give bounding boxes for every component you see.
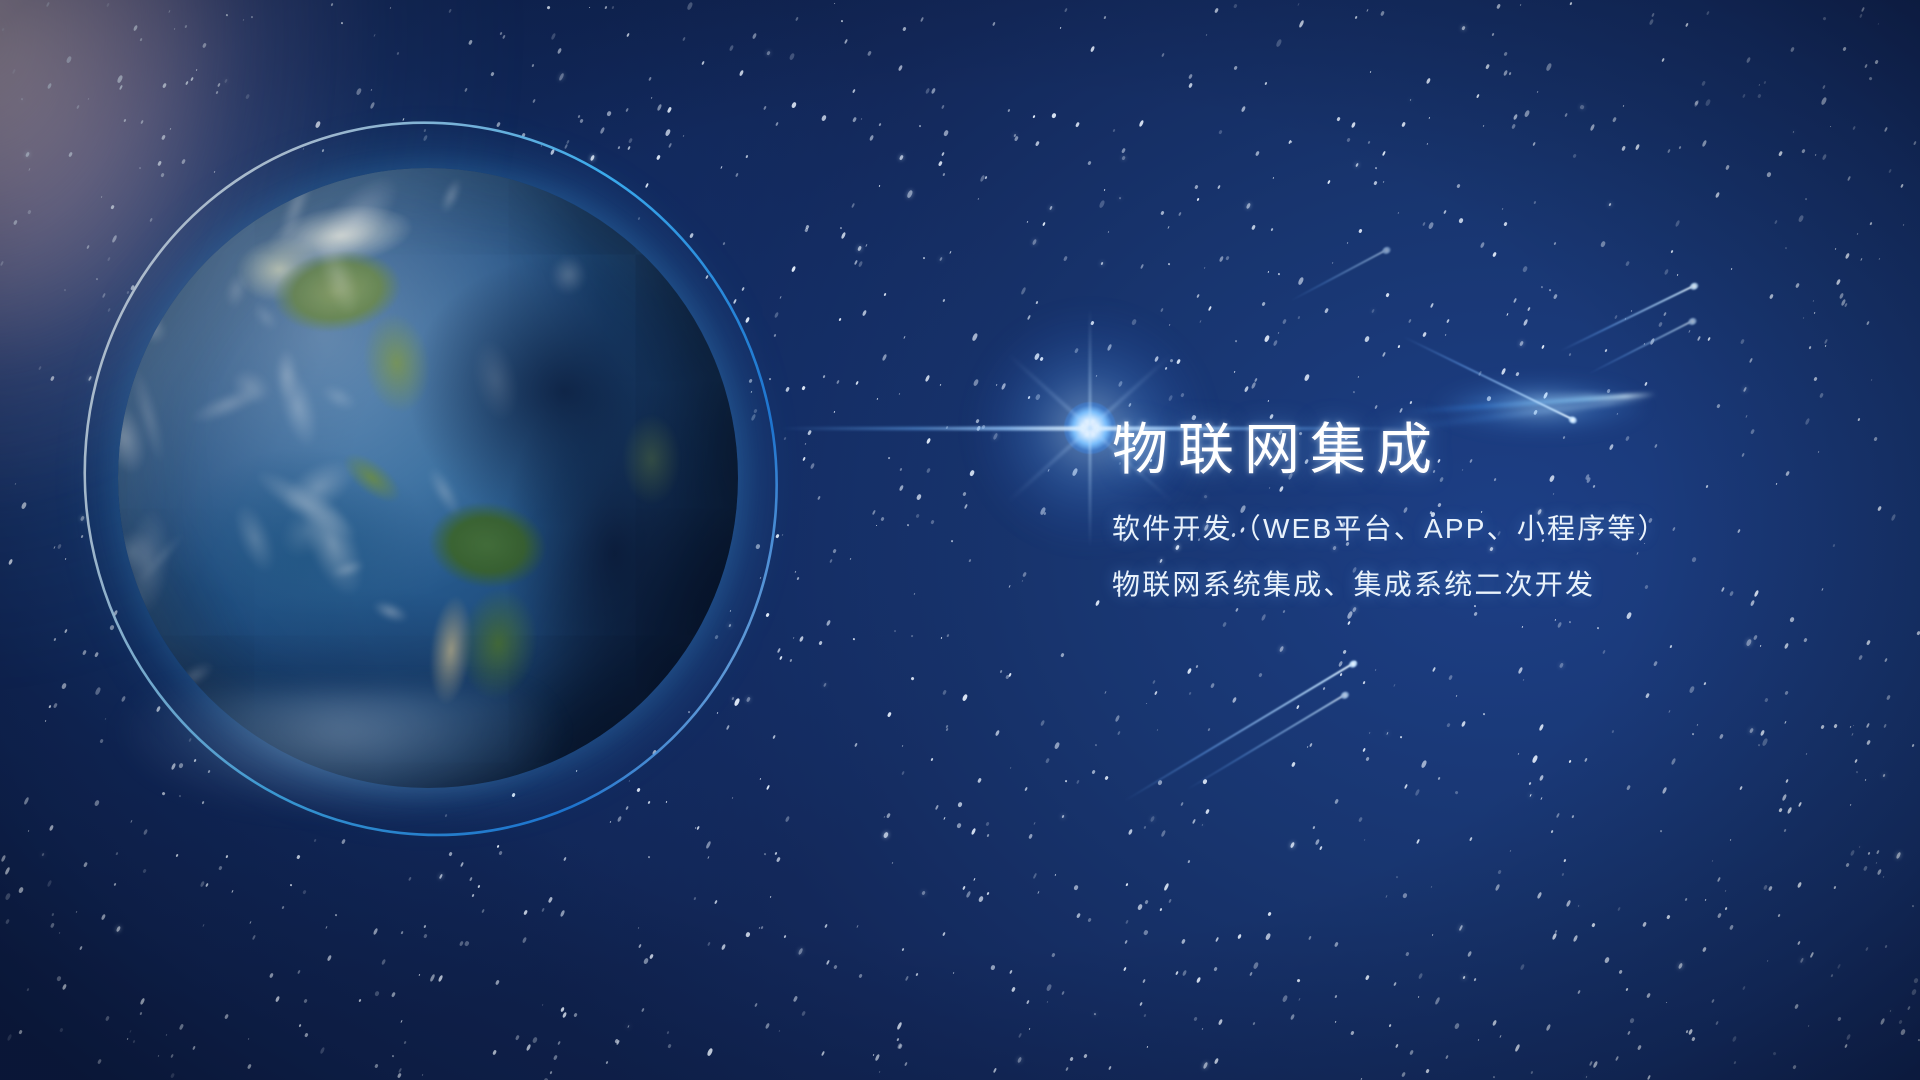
orbit-ring-svg	[0, 23, 878, 935]
meteor-lower-a	[1124, 661, 1355, 800]
globe-reflection-haze	[60, 690, 620, 900]
continent-south-america	[376, 468, 615, 774]
meteor-head	[1689, 281, 1700, 291]
banner-subtitle-line-1: 软件开发（WEB平台、APP、小程序等）	[1112, 506, 1872, 551]
meteor-mid-right	[1290, 248, 1387, 300]
banner-headline: 物联网集成	[1112, 420, 1872, 480]
light-beam-tertiary	[1452, 393, 1612, 401]
meteor-upper-right-c	[1588, 319, 1693, 373]
globe-oceans	[118, 168, 738, 788]
meteor-tail	[1588, 319, 1694, 375]
hero-banner: 物联网集成 软件开发（WEB平台、APP、小程序等） 物联网系统集成、集成系统二…	[0, 0, 1920, 1080]
globe-clouds	[118, 168, 738, 788]
meteor-tail	[1290, 248, 1388, 302]
banner-text-block: 物联网集成 软件开发（WEB平台、APP、小程序等） 物联网系统集成、集成系统二…	[1112, 420, 1872, 607]
meteor-head	[1339, 690, 1350, 701]
banner-subtitle-list: 软件开发（WEB平台、APP、小程序等） 物联网系统集成、集成系统二次开发	[1112, 506, 1872, 607]
globe-terminator	[118, 168, 738, 788]
meteor-head	[1381, 245, 1392, 255]
meteor-tail	[1186, 693, 1347, 791]
earth-globe	[118, 168, 738, 788]
banner-subtitle-line-2: 物联网系统集成、集成系统二次开发	[1112, 562, 1872, 607]
continent-africa-limb	[602, 354, 726, 565]
corner-glow	[0, 0, 840, 840]
meteor-tail	[1403, 336, 1575, 421]
lens-flare-vertical-streak	[1089, 308, 1091, 548]
globe-sphere	[118, 168, 738, 788]
meteor-tail	[1560, 284, 1696, 352]
globe-atmosphere	[76, 126, 780, 830]
meteor-head	[1348, 659, 1359, 670]
orbit-ring	[26, 68, 819, 881]
meteor-lower-b	[1186, 693, 1345, 789]
meteor-upper-right-b	[1560, 284, 1695, 350]
continent-north-america	[201, 187, 506, 471]
continent-central-america	[280, 387, 464, 569]
meteor-tail	[1124, 661, 1357, 802]
meteor-head	[1687, 316, 1698, 326]
lens-flare-core	[1064, 402, 1116, 454]
meteor-upper-right-a	[1404, 336, 1575, 419]
corner-glow-inner	[0, 0, 540, 640]
light-beam-primary	[1406, 392, 1656, 413]
